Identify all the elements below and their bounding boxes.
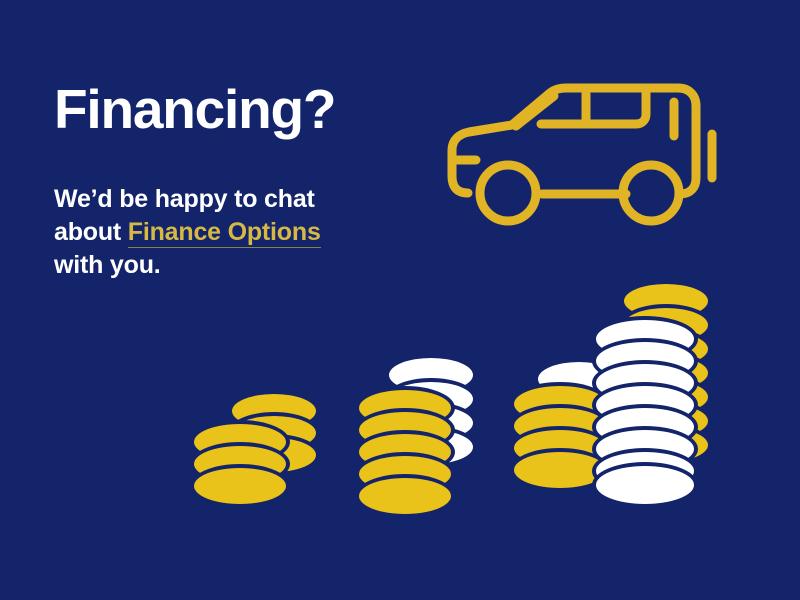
financing-banner: Financing? We’d be happy to chat about F… [0,0,800,600]
subcopy-line-3: with you. [54,251,161,279]
page-title: Financing? [54,82,414,137]
coin-stack-large [500,272,720,512]
suv-car-icon [446,78,722,230]
finance-options-link[interactable]: Finance Options [128,218,321,248]
subcopy-line-1: We’d be happy to chat [54,185,315,213]
subcopy-line-2-prefix: about [54,218,128,246]
coin [355,474,455,518]
text-block: Financing? We’d be happy to chat about F… [54,82,414,282]
coin [592,462,698,508]
coin [190,464,290,508]
coin-stack-medium [355,352,480,510]
subcopy: We’d be happy to chat about Finance Opti… [54,137,414,282]
suv-car-icon-svg [446,78,722,230]
coin-stack-small [190,386,320,510]
